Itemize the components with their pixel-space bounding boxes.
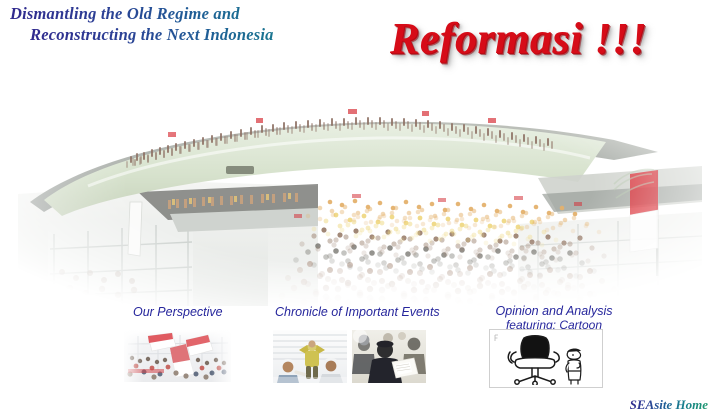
- documents: [392, 358, 418, 378]
- hero-image: [18, 74, 702, 306]
- reformasi-wordmark-text: Reformasi !!!: [390, 14, 647, 64]
- mpr-building-illustration: [18, 74, 702, 306]
- opinion-cartoon-chair-image: [490, 330, 600, 385]
- section-label-opinion[interactable]: Opinion and Analysis featuring: Cartoon: [490, 304, 618, 332]
- page-title-line1: Dismantling the Old Regime and: [10, 3, 430, 24]
- section-label-our-perspective[interactable]: Our Perspective: [133, 305, 223, 319]
- page-root: Dismantling the Old Regime and Reconstru…: [0, 0, 720, 420]
- thumbnail-our-perspective[interactable]: [124, 330, 231, 382]
- page-title: Dismantling the Old Regime and Reconstru…: [10, 3, 430, 45]
- thumbnail-opinion-cartoon[interactable]: [489, 329, 603, 388]
- section-label-chronicle[interactable]: Chronicle of Important Events: [275, 305, 440, 319]
- chronicle-reading-documents-image: [352, 330, 426, 383]
- chronicle-students-celebrating-image: [273, 330, 347, 383]
- seasite-home-link[interactable]: SEAsite Home: [630, 397, 708, 413]
- reformasi-wordmark: Reformasi !!!: [380, 14, 700, 70]
- page-title-line2: Reconstructing the Next Indonesia: [30, 24, 430, 45]
- section-label-opinion-main: Opinion and Analysis: [496, 304, 613, 318]
- perspective-crowd-flags-image: [124, 330, 231, 382]
- thumbnail-chronicle-documents[interactable]: [352, 330, 426, 383]
- cartoon-figure: [566, 348, 581, 384]
- thumbnail-chronicle-students[interactable]: [273, 330, 347, 383]
